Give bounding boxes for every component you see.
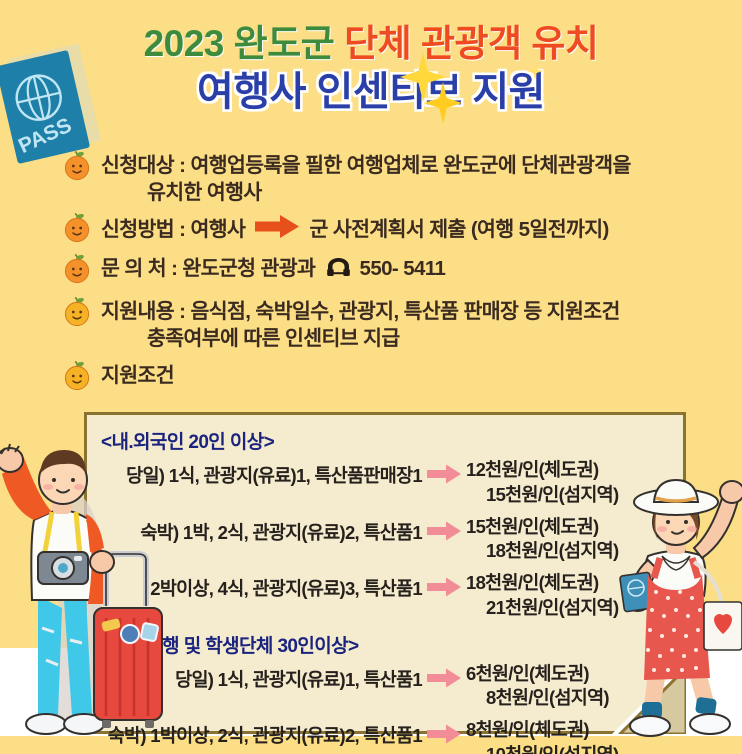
info-suffix: 군 사전계획서 제출 (여행 5일전까지)	[309, 218, 608, 241]
group-heading-domestic-foreign: <내.외국인 20인 이상>	[101, 427, 671, 454]
info-line-1: 지원내용 : 음식점, 숙박일수, 관광지, 특산품 판매장 등 지원조건	[101, 300, 620, 323]
info-list: 신청대상 : 여행업등록을 필한 여행업체로 완도군에 단체관광객을 유치한 여…	[62, 150, 722, 396]
male-traveler-with-suitcase-illustration	[0, 428, 170, 746]
arrow-cell	[424, 718, 464, 749]
price-mainland: 12천원/인(체도권)	[466, 459, 598, 480]
conditions-content: <내.외국인 20인 이상> 당일) 1식, 관광지(유료)1, 특산품판매장1…	[87, 415, 683, 754]
info-line-1: 신청대상 : 여행업등록을 필한 여행업체로 완도군에 단체관광객을	[101, 154, 631, 177]
contact-phone: 550- 5411	[360, 257, 446, 280]
info-row-support-conditions: 지원조건	[62, 360, 722, 391]
arrow-right-icon	[255, 214, 299, 239]
telephone-icon	[326, 256, 351, 278]
conditions-box: <내.외국인 20인 이상> 당일) 1식, 관광지(유료)1, 특산품판매장1…	[84, 412, 686, 734]
condition-row: 당일) 1식, 관광지(유료)1, 특산품1 6천원/인(체도권) 8천원/인(…	[101, 662, 671, 712]
info-row-application-method: 신청방법 : 여행사 군 사전계획서 제출 (여행 5일전까지)	[62, 212, 722, 243]
orange-smiley-icon	[62, 213, 92, 243]
info-row-text: 지원조건	[101, 360, 174, 389]
title-line-2: 여행사 인센티브 지원	[197, 69, 545, 116]
poster-canvas: PASS 2023 완도군 단체 관광객 유치 여행사 인센티브 지원	[0, 0, 742, 754]
info-prefix: 신청방법 : 여행사	[101, 218, 245, 241]
arrow-right-icon	[427, 668, 461, 688]
passport-illustration: PASS	[0, 36, 116, 166]
arrow-right-icon	[427, 464, 461, 484]
price-mainland: 8천원/인(체도권)	[466, 719, 589, 740]
price-mainland: 18천원/인(체도권)	[466, 572, 598, 593]
condition-row: 숙박) 1박, 2식, 관광지(유료)2, 특산품1 15천원/인(체도권) 1…	[101, 515, 671, 565]
arrow-right-icon	[427, 577, 461, 597]
info-line-2: 유치한 여행사	[101, 179, 631, 206]
condition-row: 숙박) 1박이상, 2식, 관광지(유료)2, 특산품1 8천원/인(체도권) …	[101, 718, 671, 754]
info-row-text: 신청방법 : 여행사 군 사전계획서 제출 (여행 5일전까지)	[101, 212, 609, 243]
arrow-cell	[424, 458, 464, 489]
orange-smiley-icon	[62, 361, 92, 391]
price-mainland: 15천원/인(체도권)	[466, 516, 598, 537]
info-row-application-target: 신청대상 : 여행업등록을 필한 여행업체로 완도군에 단체관광객을 유치한 여…	[62, 150, 722, 207]
title-green-part: 2023 완도군	[144, 23, 335, 64]
contact-prefix: 문 의 처 : 완도군청 관광과	[101, 257, 315, 280]
title-red-part: 단체 관광객 유치	[344, 23, 598, 64]
condition-row: 2박이상, 4식, 관광지(유료)3, 특산품1 18천원/인(체도권) 21천…	[101, 571, 671, 621]
arrow-right-icon	[427, 521, 461, 541]
orange-smiley-icon	[62, 297, 92, 327]
info-row-text: 문 의 처 : 완도군청 관광과 550- 5411	[101, 253, 445, 282]
orange-smiley-icon	[62, 151, 92, 181]
arrow-right-icon	[427, 724, 461, 744]
price-mainland: 6천원/인(체도권)	[466, 663, 589, 684]
arrow-cell	[424, 515, 464, 546]
arrow-cell	[424, 571, 464, 602]
info-line-2: 충족여부에 따른 인센티브 지급	[101, 325, 620, 352]
female-traveler-with-passport-illustration	[606, 474, 742, 746]
condition-row: 당일) 1식, 관광지(유료)1, 특산품판매장1 12천원/인(체도권) 15…	[101, 458, 671, 508]
info-row-support-content: 지원내용 : 음식점, 숙박일수, 관광지, 특산품 판매장 등 지원조건 충족…	[62, 296, 722, 353]
info-row-contact: 문 의 처 : 완도군청 관광과 550- 5411	[62, 253, 722, 284]
info-row-text: 지원내용 : 음식점, 숙박일수, 관광지, 특산품 판매장 등 지원조건 충족…	[101, 296, 620, 353]
group-heading-school-student: <수학여행 및 학생단체 30인이상>	[101, 631, 671, 658]
orange-smiley-icon	[62, 254, 92, 284]
arrow-cell	[424, 662, 464, 693]
info-row-text: 신청대상 : 여행업등록을 필한 여행업체로 완도군에 단체관광객을 유치한 여…	[101, 150, 631, 207]
